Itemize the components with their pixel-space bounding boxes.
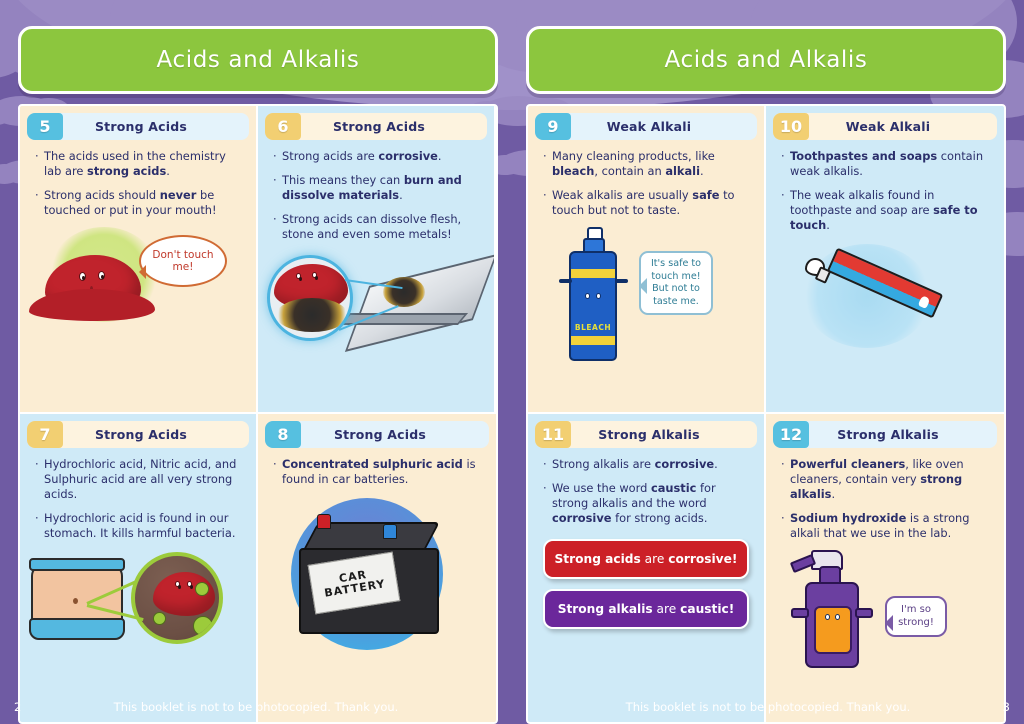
bullet-item: · Sodium hydroxide is a strong alkali th… <box>781 511 991 541</box>
panel-6-title: Strong Acids <box>301 119 487 134</box>
bottle-eye-left <box>585 293 590 299</box>
bottle-label: BLEACH <box>571 323 615 332</box>
blob-eye-right <box>187 581 192 587</box>
panel-6[interactable]: 6 Strong Acids · Strong acids are corros… <box>258 106 496 414</box>
bullet-item: · Strong acids are corrosive. <box>273 149 481 164</box>
blob-eye-left <box>296 273 301 279</box>
panel-11-banner-buttons: Strong acids are corrosive! Strong alkal… <box>535 539 757 639</box>
bullet-item: · This means they can burn and dissolve … <box>273 173 481 203</box>
right-page-footer: This booklet is not to be photocopied. T… <box>512 690 1024 724</box>
panel-10-header: 10 Weak Alkali <box>773 113 997 140</box>
panel-5-bullets: · The acids used in the chemistry lab ar… <box>27 147 249 227</box>
bottle-arm-left <box>559 279 572 283</box>
panel-7-header: 7 Strong Acids <box>27 421 249 448</box>
panel-12-header: 12 Strong Alkalis <box>773 421 997 448</box>
right-footer-note: This booklet is not to be photocopied. T… <box>566 700 970 714</box>
panel-7-title: Strong Acids <box>63 427 249 442</box>
page-title: Acids and Alkalis <box>157 47 360 73</box>
left-panel-grid: 5 Strong Acids · The acids used in the c… <box>18 104 498 724</box>
banner-strong-acids-corrosive[interactable]: Strong acids are corrosive! <box>543 539 749 579</box>
blob-eye-left <box>175 581 180 587</box>
battery-label-text: CAR BATTERY <box>311 565 398 601</box>
left-page-title-banner: Acids and Alkalis <box>18 26 498 94</box>
panel-9-title: Weak Alkali <box>571 119 757 134</box>
panel-5-title: Strong Acids <box>63 119 249 134</box>
bullet-item: · Strong acids can dissolve flesh, stone… <box>273 212 481 242</box>
panel-7[interactable]: 7 Strong Acids · Hydrochloric acid, Nitr… <box>20 414 258 722</box>
left-page: Acids and Alkalis 5 Strong Acids · The a… <box>18 0 498 724</box>
burn-spot-magnified <box>276 298 348 332</box>
panel-12-number-badge: 12 <box>773 421 809 448</box>
left-footer-note: This booklet is not to be photocopied. T… <box>54 700 458 714</box>
panel-10[interactable]: 10 Weak Alkali · Toothpastes and soaps c… <box>766 106 1004 414</box>
panel-9-bullets: · Many cleaning products, like bleach, c… <box>535 147 757 227</box>
battery-terminal-negative <box>383 524 397 539</box>
spray-nozzle <box>790 554 816 573</box>
bottle-arm-right <box>615 279 628 283</box>
panel-8-bullets: · Concentrated sulphuric acid is found i… <box>265 455 489 496</box>
panel-8-illustration: CAR BATTERY <box>265 496 489 716</box>
spray-arm-left <box>791 608 809 618</box>
panel-12-bullets: · Powerful cleaners, like oven cleaners,… <box>773 455 997 550</box>
waistband-top <box>29 558 125 571</box>
panel-10-illustration <box>773 242 997 406</box>
spray-arm-right <box>855 608 873 618</box>
page-title: Acids and Alkalis <box>665 47 868 73</box>
panel-6-bullets: · Strong acids are corrosive. · This mea… <box>265 147 487 251</box>
panel-5-illustration: Don't touch me! <box>27 227 249 406</box>
bullet-item: · Many cleaning products, like bleach, c… <box>543 149 751 179</box>
right-page: Acids and Alkalis 9 Weak Alkali · Many c… <box>526 0 1006 724</box>
germ <box>193 616 213 636</box>
panel-12-title: Strong Alkalis <box>809 427 997 442</box>
bleach-bottle-character: BLEACH <box>569 251 617 361</box>
panel-11-title: Strong Alkalis <box>571 427 757 442</box>
bullet-item: · The weak alkalis found in toothpaste a… <box>781 188 991 233</box>
panel-9[interactable]: 9 Weak Alkali · Many cleaning products, … <box>528 106 766 414</box>
panel-5[interactable]: 5 Strong Acids · The acids used in the c… <box>20 106 258 414</box>
panel-8-title: Strong Acids <box>301 427 489 442</box>
panel-6-number-badge: 6 <box>265 113 301 140</box>
bullet-item: · Concentrated sulphuric acid is found i… <box>273 457 483 487</box>
speech-bubble-safe-to-touch: It's safe to touch me! But not to taste … <box>639 251 713 315</box>
panel-9-number-badge: 9 <box>535 113 571 140</box>
bullet-item: · Weak alkalis are usually safe to touch… <box>543 188 751 218</box>
panel-6-header: 6 Strong Acids <box>265 113 487 140</box>
speech-bubble-dont-touch: Don't touch me! <box>139 235 227 287</box>
bullet-item: · The acids used in the chemistry lab ar… <box>35 149 243 179</box>
right-panel-grid: 9 Weak Alkali · Many cleaning products, … <box>526 104 1006 724</box>
left-page-footer: 2 This booklet is not to be photocopied.… <box>0 690 512 724</box>
left-page-number: 2 <box>14 700 54 714</box>
panel-10-title: Weak Alkali <box>809 119 997 134</box>
bullet-item: · Hydrochloric acid, Nitric acid, and Su… <box>35 457 243 502</box>
blob-eye-left <box>79 272 86 281</box>
panel-8-number-badge: 8 <box>265 421 301 448</box>
panel-8[interactable]: 8 Strong Acids · Concentrated sulphuric … <box>258 414 496 722</box>
panel-10-number-badge: 10 <box>773 113 809 140</box>
bullet-item: · We use the word caustic for strong alk… <box>543 481 751 526</box>
bullet-item: · Strong alkalis are corrosive. <box>543 457 751 472</box>
metal-plate-edge <box>340 313 468 325</box>
tooth-icon <box>918 295 931 309</box>
bottle-stripe-bottom <box>571 336 615 345</box>
panel-6-illustration <box>265 251 487 406</box>
right-page-number: 3 <box>970 700 1010 714</box>
panel-9-header: 9 Weak Alkali <box>535 113 757 140</box>
panel-7-bullets: · Hydrochloric acid, Nitric acid, and Su… <box>27 455 249 550</box>
panel-5-number-badge: 5 <box>27 113 63 140</box>
spray-cleaner-character <box>805 582 859 668</box>
panel-11[interactable]: 11 Strong Alkalis · Strong alkalis are c… <box>528 414 766 722</box>
spray-bottle-label <box>814 606 852 654</box>
panel-10-bullets: · Toothpastes and soaps contain weak alk… <box>773 147 997 242</box>
right-page-title-banner: Acids and Alkalis <box>526 26 1006 94</box>
panel-11-bullets: · Strong alkalis are corrosive. · We use… <box>535 455 757 535</box>
blob-eye-right <box>312 272 317 278</box>
bullet-item: · Powerful cleaners, like oven cleaners,… <box>781 457 991 502</box>
bottle-stripe-top <box>571 269 615 278</box>
waistband-bottom <box>29 618 125 640</box>
panel-8-header: 8 Strong Acids <box>265 421 489 448</box>
metal-plate <box>345 254 496 352</box>
panel-5-header: 5 Strong Acids <box>27 113 249 140</box>
blob-eye-right <box>98 271 105 280</box>
bullet-item: · Toothpastes and soaps contain weak alk… <box>781 149 991 179</box>
panel-9-illustration: BLEACH It's safe to touch me! But not to… <box>535 227 757 406</box>
speech-bubble-im-so-strong: I'm so strong! <box>885 596 947 637</box>
bullet-item: · Strong acids should never be touched o… <box>35 188 243 218</box>
bullet-item: · Hydrochloric acid is found in our stom… <box>35 511 243 541</box>
germ <box>153 612 166 625</box>
panel-7-number-badge: 7 <box>27 421 63 448</box>
panel-12[interactable]: 12 Strong Alkalis · Powerful cleaners, l… <box>766 414 1004 722</box>
battery-terminal-positive <box>317 514 331 529</box>
panel-11-number-badge: 11 <box>535 421 571 448</box>
banner-strong-alkalis-caustic[interactable]: Strong alkalis are caustic! <box>543 589 749 629</box>
magnifier-circle-germs <box>131 552 223 644</box>
bottle-eye-right <box>596 293 601 299</box>
panel-11-header: 11 Strong Alkalis <box>535 421 757 448</box>
